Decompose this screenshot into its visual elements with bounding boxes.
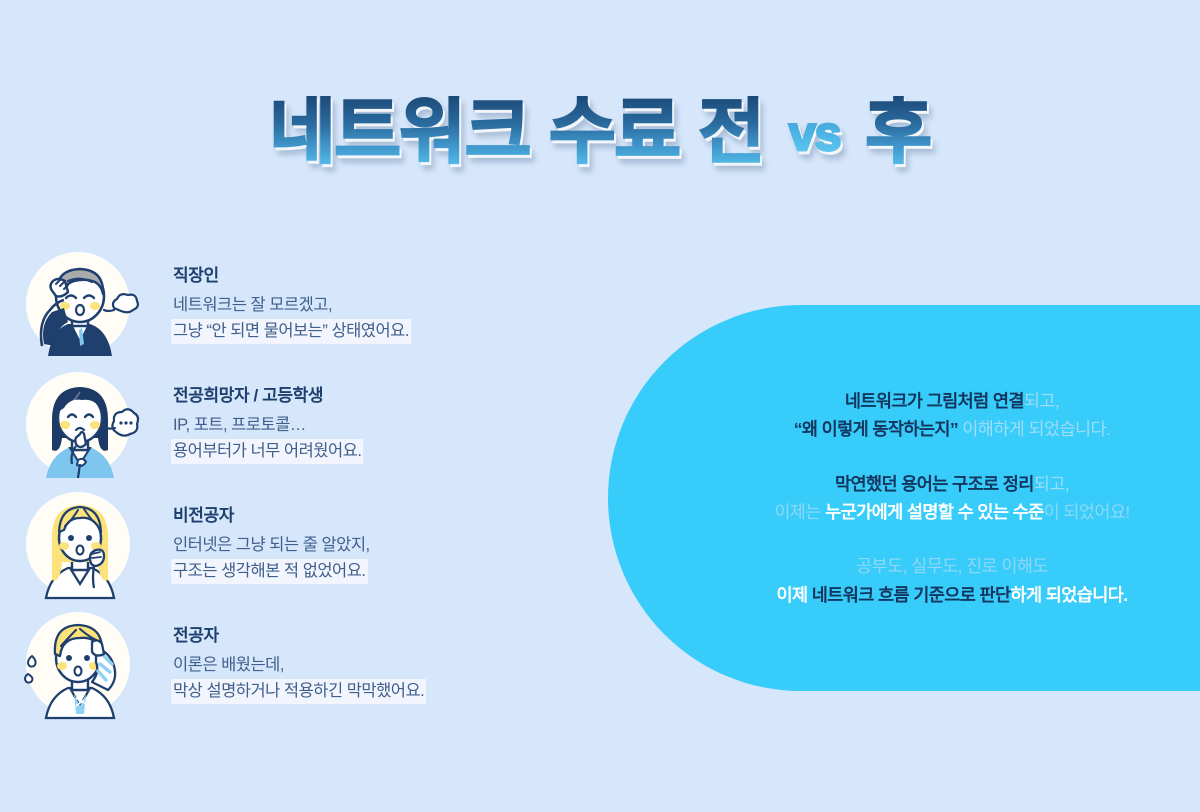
panel-block-2: 막연했던 용어는 구조로 정리되고, 이제는 누군가에게 설명할 수 있는 수준… <box>704 470 1200 527</box>
page-title: 네트워크 수료 전 vs 후 <box>0 96 1200 206</box>
persona-line-1: 네트워크는 잘 모르겠고, <box>173 293 332 319</box>
persona-line-2: 용어부터가 너무 어려웠어요. <box>173 439 361 465</box>
persona-line-1: IP, 포트, 프로토콜… <box>173 413 306 439</box>
panel-content: 네트워크가 그림처럼 연결되고, “왜 이렇게 동작하는지” 이해하게 되었습니… <box>704 305 1200 691</box>
panel-line: 네트워크가 그림처럼 연결되고, <box>704 387 1200 415</box>
panel-b3-l1: 공부도, 실무도, 진로 이해도 <box>856 556 1048 576</box>
panel-b1-l2b: 이해하게 되었습니다. <box>958 419 1110 439</box>
persona-label: 전공자 <box>173 621 424 646</box>
panel-b2-l2c: 이 되었어요! <box>1044 502 1130 522</box>
persona-text: 전공자 이론은 배웠는데, 막상 설명하거나 적용하긴 막막했어요. <box>173 608 424 704</box>
panel-block-3: 공부도, 실무도, 진로 이해도 이제 네트워크 흐름 기준으로 판단하게 되었… <box>704 552 1200 609</box>
list-item: 전공희망자 / 고등학생 IP, 포트, 프로토콜… 용어부터가 너무 어려웠어… <box>20 368 580 488</box>
panel-b2-l1a: 막연했던 용어는 구조로 정리 <box>835 474 1034 494</box>
title-after: 후 <box>865 92 930 172</box>
panel-line: 공부도, 실무도, 진로 이해도 <box>704 552 1200 580</box>
panel-b2-l2b: 누군가에게 설명할 수 있는 수준 <box>825 502 1044 522</box>
list-item: 전공자 이론은 배웠는데, 막상 설명하거나 적용하긴 막막했어요. <box>20 608 580 728</box>
persona-label: 직장인 <box>173 261 409 286</box>
persona-line-2: 그냥 “안 되면 물어보는” 상태였어요. <box>173 319 409 345</box>
after-results-panel: 네트워크가 그림처럼 연결되고, “왜 이렇게 동작하는지” 이해하게 되었습니… <box>608 305 1200 691</box>
panel-line: “왜 이렇게 동작하는지” 이해하게 되었습니다. <box>704 415 1200 443</box>
office-worker-avatar-icon <box>20 248 140 358</box>
persona-line-1: 인터넷은 그냥 되는 줄 알았지, <box>173 533 370 559</box>
panel-line: 막연했던 용어는 구조로 정리되고, <box>704 470 1200 498</box>
persona-text: 직장인 네트워크는 잘 모르겠고, 그냥 “안 되면 물어보는” 상태였어요. <box>173 248 409 344</box>
panel-block-1: 네트워크가 그림처럼 연결되고, “왜 이렇게 동작하는지” 이해하게 되었습니… <box>704 387 1200 444</box>
persona-label: 비전공자 <box>173 501 370 526</box>
panel-b3-l2a: 이제 <box>776 585 811 605</box>
panel-b2-l1b: 되고, <box>1034 474 1069 494</box>
female-student-avatar-icon <box>20 368 140 478</box>
panel-b3-l2c: 하게 되었습니다. <box>1011 585 1128 605</box>
panel-b1-l2a: “왜 이렇게 동작하는지” <box>794 419 958 439</box>
persona-line-2: 막상 설명하거나 적용하긴 막막했어요. <box>173 679 424 705</box>
title-before: 네트워크 수료 전 <box>269 92 764 172</box>
panel-b3-l2b: 네트워크 흐름 기준으로 판단 <box>812 585 1011 605</box>
panel-line: 이제는 누군가에게 설명할 수 있는 수준이 되었어요! <box>704 498 1200 526</box>
list-item: 비전공자 인터넷은 그냥 되는 줄 알았지, 구조는 생각해본 적 없었어요. <box>20 488 580 608</box>
persona-text: 전공희망자 / 고등학생 IP, 포트, 프로토콜… 용어부터가 너무 어려웠어… <box>173 368 361 464</box>
title-text: 네트워크 수료 전 vs 후 <box>269 96 930 168</box>
panel-b2-l2a: 이제는 <box>774 502 825 522</box>
persona-line-1: 이론은 배웠는데, <box>173 653 284 679</box>
panel-b1-l1b: 되고, <box>1024 391 1059 411</box>
persona-text: 비전공자 인터넷은 그냥 되는 줄 알았지, 구조는 생각해본 적 없었어요. <box>173 488 370 584</box>
persona-line-2: 구조는 생각해본 적 없었어요. <box>173 559 366 585</box>
title-vs: vs <box>783 108 846 161</box>
young-man-avatar-icon <box>20 608 140 718</box>
list-item: 직장인 네트워크는 잘 모르겠고, 그냥 “안 되면 물어보는” 상태였어요. <box>20 248 580 368</box>
panel-b1-l1a: 네트워크가 그림처럼 연결 <box>845 391 1024 411</box>
persona-list: 직장인 네트워크는 잘 모르겠고, 그냥 “안 되면 물어보는” 상태였어요. <box>20 248 580 728</box>
blonde-woman-avatar-icon <box>20 488 140 598</box>
persona-label: 전공희망자 / 고등학생 <box>173 381 361 406</box>
panel-line: 이제 네트워크 흐름 기준으로 판단하게 되었습니다. <box>704 581 1200 609</box>
